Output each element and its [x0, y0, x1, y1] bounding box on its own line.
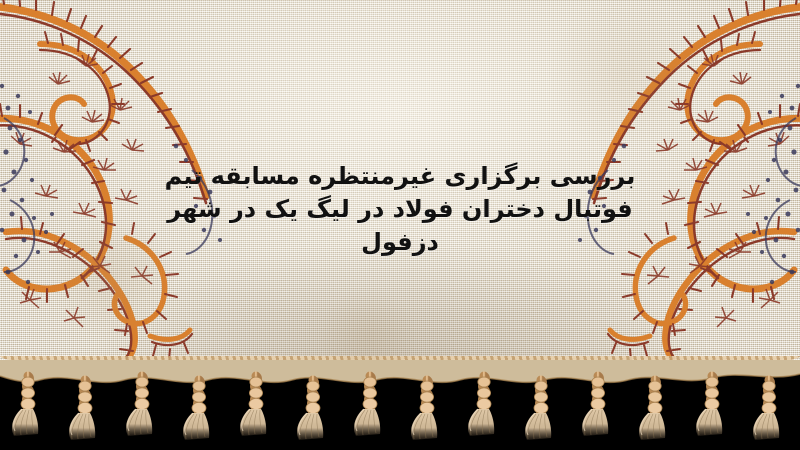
banner-image: بررسی برگزاری غیرمنتظره مسابقه تیم فوتبا…	[0, 0, 800, 450]
knotted-tassel-fringe	[0, 360, 800, 450]
page-title: بررسی برگزاری غیرمنتظره مسابقه تیم فوتبا…	[0, 160, 800, 259]
headline-line-1: بررسی برگزاری غیرمنتظره مسابقه تیم	[120, 160, 680, 193]
headline-line-2: فوتبال دختران فولاد در لیگ یک در شهر	[120, 193, 680, 226]
headline-line-3: دزفول	[120, 226, 680, 259]
